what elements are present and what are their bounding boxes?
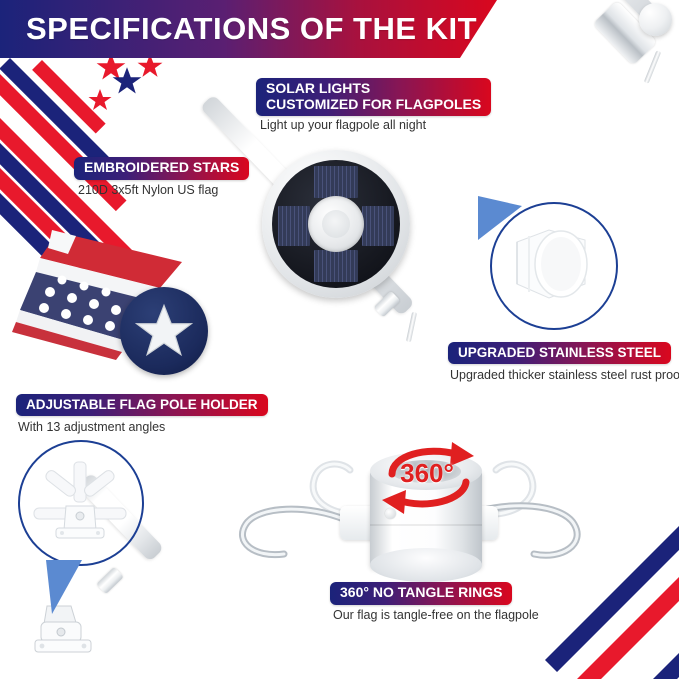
rotation-badge-label: 360° xyxy=(386,458,468,489)
callout-no-tangle-rings-subtitle: Our flag is tangle-free on the flagpole xyxy=(333,608,539,622)
callout-adjustable-holder-title: ADJUSTABLE FLAG POLE HOLDER xyxy=(26,397,258,412)
infographic-canvas: SPECIFICATIONS OF THE KIT xyxy=(0,0,679,679)
star-icon xyxy=(88,88,112,112)
callout-stainless-steel-pill: UPGRADED STAINLESS STEEL xyxy=(448,342,671,364)
solar-panel-icon xyxy=(278,206,310,246)
star-icon xyxy=(135,302,193,360)
adjustable-bracket-icon xyxy=(32,458,128,551)
finial-pin-icon xyxy=(644,50,661,83)
header-banner: SPECIFICATIONS OF THE KIT xyxy=(0,0,497,58)
callout-embroidered-stars-title: EMBROIDERED STARS xyxy=(84,160,239,176)
callout-solar-lights-title-line1: SOLAR LIGHTS xyxy=(266,81,481,97)
callout-no-tangle-rings-title: 360° NO TANGLE RINGS xyxy=(340,585,502,601)
pole-clip-pin-icon xyxy=(406,312,417,342)
callout-adjustable-holder-subtitle: With 13 adjustment angles xyxy=(18,420,165,434)
callout-embroidered-stars-pill: EMBROIDERED STARS xyxy=(74,157,249,180)
solar-panel-icon xyxy=(314,250,358,282)
ball-finial xyxy=(639,3,672,36)
callout-adjustable-holder-pill: ADJUSTABLE FLAG POLE HOLDER xyxy=(16,394,268,416)
cylinder-bottom xyxy=(370,548,482,582)
callout-stainless-steel-subtitle: Upgraded thicker stainless steel rust pr… xyxy=(450,368,679,382)
pole-joint-lower xyxy=(96,567,124,594)
stainless-steel-coupling-icon xyxy=(505,222,595,313)
solar-panel-icon xyxy=(314,166,358,198)
carabiner-icon xyxy=(228,498,354,569)
callout-solar-lights-subtitle: Light up your flagpole all night xyxy=(260,118,426,132)
solar-panel-icon xyxy=(362,206,394,246)
star-icon xyxy=(112,66,142,96)
page-title: SPECIFICATIONS OF THE KIT xyxy=(0,11,477,47)
callout-no-tangle-rings-pill: 360° NO TANGLE RINGS xyxy=(330,582,512,605)
callout-solar-lights-title-line2: CUSTOMIZED FOR FLAGPOLES xyxy=(266,97,481,113)
callout-solar-lights-pill: SOLAR LIGHTS CUSTOMIZED FOR FLAGPOLES xyxy=(256,78,491,116)
holder-callout-pointer xyxy=(46,560,82,614)
callout-embroidered-stars-subtitle: 210D 3x5ft Nylon US flag xyxy=(78,183,218,197)
callout-stainless-steel-title: UPGRADED STAINLESS STEEL xyxy=(458,345,661,360)
cylinder-seam xyxy=(370,524,482,526)
